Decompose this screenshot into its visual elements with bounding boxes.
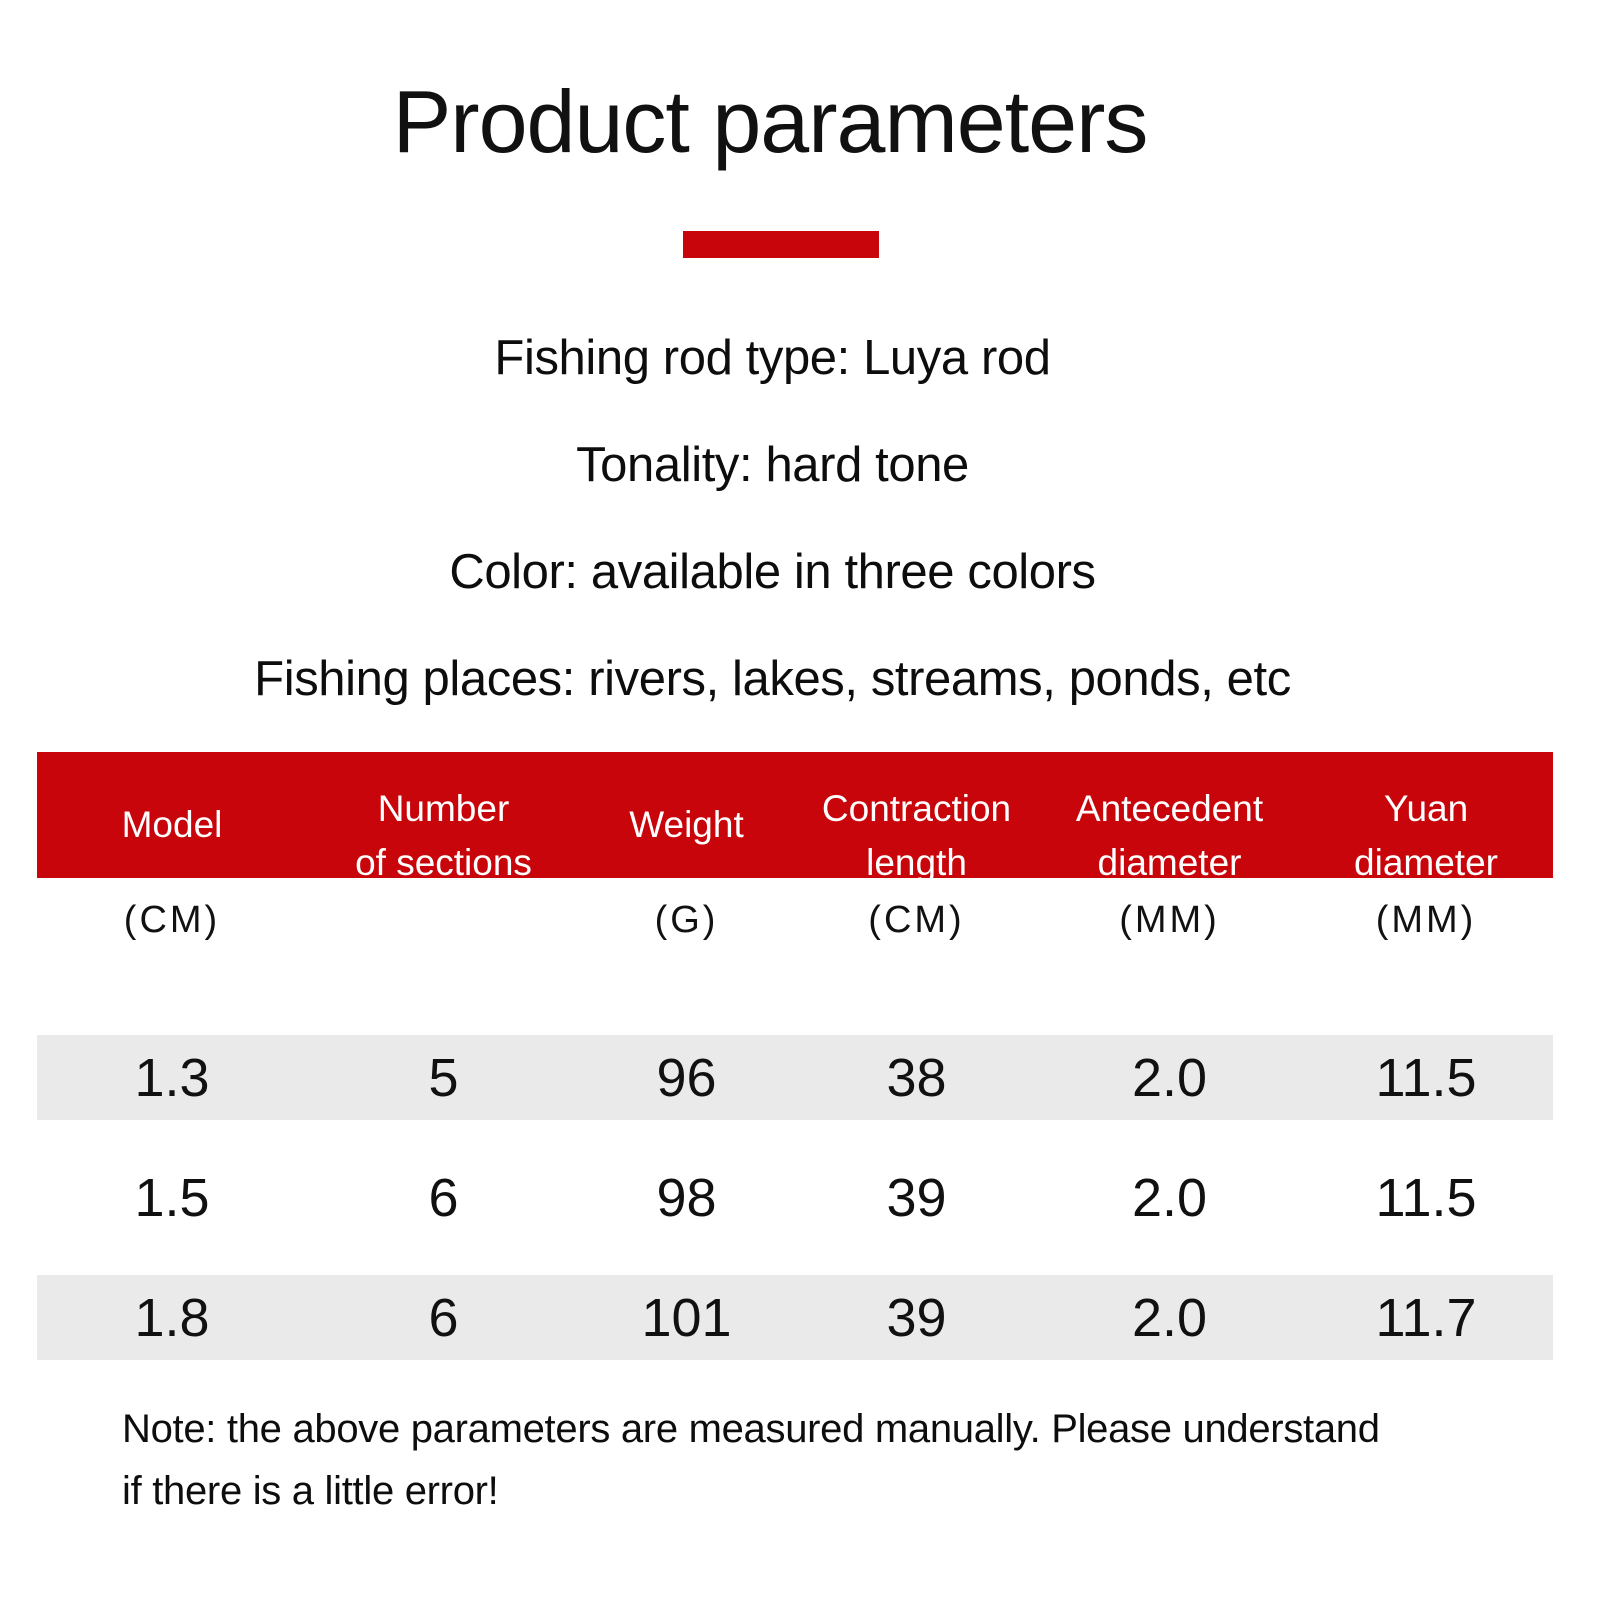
spec-line-color: Color: available in three colors [0,519,1545,626]
table-gap-row2-row3 [37,1240,1553,1275]
cell-weight: 98 [580,1170,793,1226]
cell-model: 1.8 [37,1290,307,1346]
column-header-number-of-sections: Number of sections [307,752,580,878]
table-row: 1.8 6 101 39 2.0 11.7 [37,1275,1553,1360]
cell-weight: 101 [580,1290,793,1346]
table-gap-above-rows [37,990,1553,1035]
cell-yuan-diameter: 11.5 [1299,1170,1553,1226]
unit-antecedent-diameter: (MM) [1040,878,1299,944]
cell-sections: 6 [307,1290,580,1346]
column-header-model: Model [37,752,307,878]
cell-antecedent-diameter: 2.0 [1040,1170,1299,1226]
column-header-antecedent-diameter: Antecedent diameter [1040,752,1299,878]
cell-sections: 5 [307,1050,580,1106]
spec-line-fishing-places: Fishing places: rivers, lakes, streams, … [0,626,1545,733]
table-row: 1.5 6 98 39 2.0 11.5 [37,1155,1553,1240]
table-units-row: (CM) (G) (CM) (MM) (MM) [37,878,1553,990]
column-header-yuan-diameter: Yuan diameter [1299,752,1553,878]
cell-model: 1.3 [37,1050,307,1106]
spec-line-tonality: Tonality: hard tone [0,412,1545,519]
product-parameters-page: Product parameters Fishing rod type: Luy… [0,0,1600,1600]
unit-model: (CM) [37,878,307,944]
column-header-contraction-length-line1: Contraction [822,782,1011,836]
cell-antecedent-diameter: 2.0 [1040,1290,1299,1346]
unit-weight: (G) [580,878,793,944]
column-header-number-of-sections-line1: Number [378,782,510,836]
unit-contraction-length: (CM) [793,878,1040,944]
cell-contraction-length: 39 [793,1170,1040,1226]
cell-yuan-diameter: 11.7 [1299,1290,1553,1346]
measurement-note: Note: the above parameters are measured … [122,1398,1482,1522]
table-gap-row1-row2 [37,1120,1553,1155]
title-accent-bar [683,231,879,258]
cell-yuan-diameter: 11.5 [1299,1050,1553,1106]
column-header-weight: Weight [580,752,793,878]
spec-line-rod-type: Fishing rod type: Luya rod [0,305,1545,412]
cell-antecedent-diameter: 2.0 [1040,1050,1299,1106]
cell-sections: 6 [307,1170,580,1226]
column-header-contraction-length: Contraction length [793,752,1040,878]
unit-yuan-diameter: (MM) [1299,878,1553,944]
measurement-note-line2: if there is a little error! [122,1460,1482,1522]
page-title: Product parameters [0,78,1540,166]
unit-number-of-sections [307,878,580,896]
column-header-antecedent-diameter-line1: Antecedent [1076,782,1263,836]
column-header-yuan-diameter-line1: Yuan [1384,782,1468,836]
column-header-model-label: Model [122,798,223,852]
parameters-table: Model Number of sections Weight Contract… [37,752,1553,1360]
table-row: 1.3 5 96 38 2.0 11.5 [37,1035,1553,1120]
measurement-note-line1: Note: the above parameters are measured … [122,1398,1482,1460]
cell-contraction-length: 39 [793,1290,1040,1346]
column-header-weight-label: Weight [629,798,744,852]
specification-list: Fishing rod type: Luya rod Tonality: har… [0,305,1545,733]
cell-model: 1.5 [37,1170,307,1226]
cell-weight: 96 [580,1050,793,1106]
table-header-row: Model Number of sections Weight Contract… [37,752,1553,878]
cell-contraction-length: 38 [793,1050,1040,1106]
